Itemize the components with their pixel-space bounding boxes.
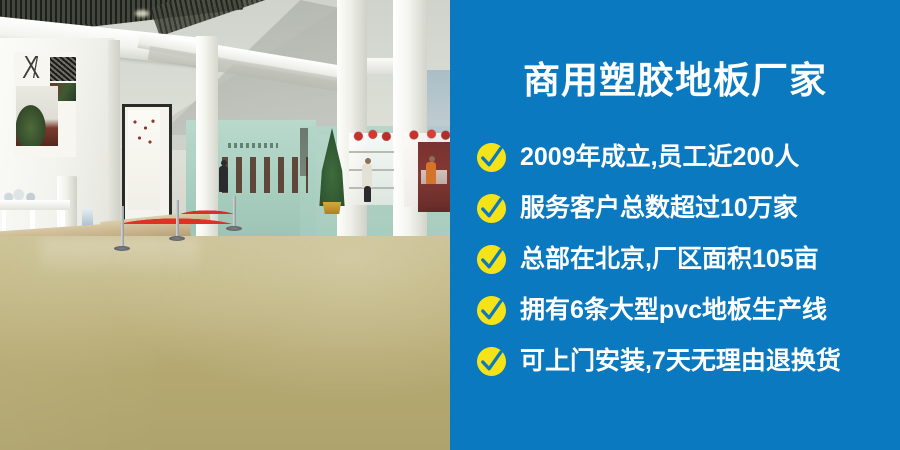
plant-pot-icon [322, 202, 342, 214]
feature-item-3: 总部在北京,厂区面积105亩 [450, 234, 900, 285]
red-rope-barrier-secondary [176, 202, 238, 214]
feature-item-2: 服务客户总数超过10万家 [450, 183, 900, 234]
flowers-right-icon [406, 128, 450, 140]
feature-item-2-label: 服务客户总数超过10万家 [520, 196, 798, 221]
info-panel: 商用塑胶地板厂家 2009年成立,员工近200人 [450, 0, 900, 450]
flowers-left-icon [352, 129, 392, 141]
pvc-floor-reflection [40, 238, 200, 278]
feature-item-1: 2009年成立,员工近200人 [450, 132, 900, 183]
check-circle-icon [476, 142, 507, 173]
visitor-2-body [362, 164, 372, 188]
rope-stanchion-mid-base [169, 236, 185, 241]
rope-stanchion-left-base [114, 246, 130, 251]
feature-item-1-label: 2009年成立,员工近200人 [520, 145, 799, 170]
check-circle-icon [476, 244, 507, 275]
poster-photo-main [16, 86, 58, 146]
visitor-2-legs [364, 186, 371, 202]
poster-photo-top [50, 57, 76, 81]
feature-item-4: 拥有6条大型pvc地板生产线 [450, 285, 900, 336]
feature-item-3-label: 总部在北京,厂区面积105亩 [520, 247, 819, 272]
calligraphy-icon [18, 56, 48, 78]
rope-stanchion-right-base [226, 226, 242, 231]
showroom-photo [0, 0, 450, 450]
ceiling-light-icon [135, 10, 149, 17]
visitor-body [219, 166, 228, 192]
feature-item-5-label: 可上门安装,7天无理由退换货 [520, 349, 841, 374]
visitor-3-body [426, 162, 436, 184]
check-circle-icon [476, 193, 507, 224]
panel-title: 商用塑胶地板厂家 [450, 62, 900, 99]
framed-artwork-pattern [129, 114, 159, 154]
wall-picture-grid [222, 157, 308, 193]
check-circle-icon [476, 295, 507, 326]
wall-sign-text [228, 143, 278, 148]
white-display-table [0, 200, 70, 210]
check-circle-icon [476, 346, 507, 377]
feature-item-4-label: 拥有6条大型pvc地板生产线 [520, 298, 827, 323]
rope-stanchion-left [121, 206, 124, 248]
feature-item-5: 可上门安装,7天无理由退换货 [450, 336, 900, 387]
rope-stanchion-mid [176, 200, 179, 238]
feature-list: 2009年成立,员工近200人 服务客户总数超过10万家 [450, 132, 900, 387]
promo-banner: 商用塑胶地板厂家 2009年成立,员工近200人 [0, 0, 900, 450]
rope-stanchion-right [233, 196, 236, 228]
